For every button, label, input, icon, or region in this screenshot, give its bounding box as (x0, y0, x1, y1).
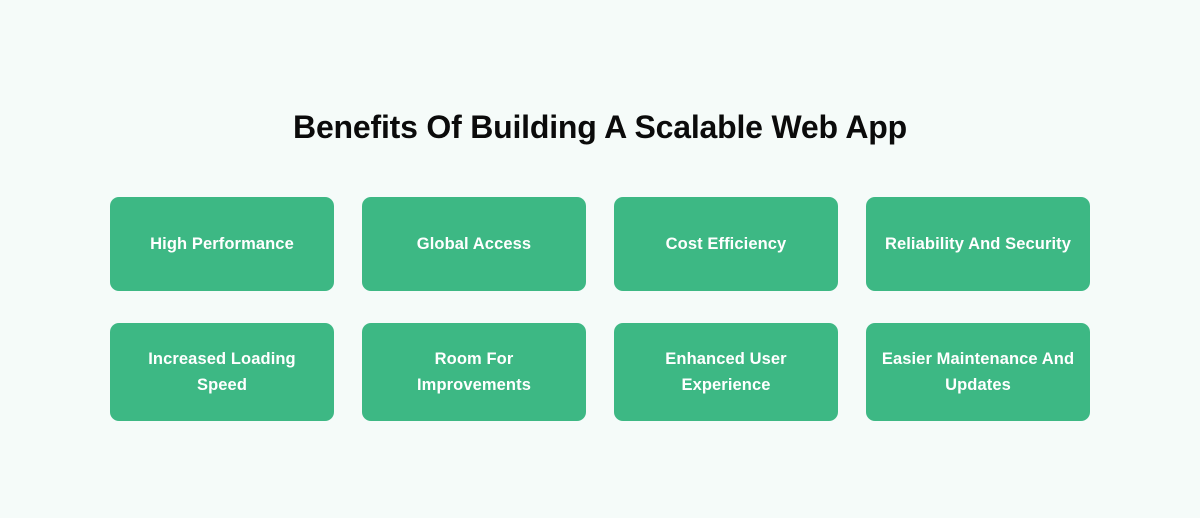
benefits-grid: High Performance Global Access Cost Effi… (110, 197, 1090, 421)
benefit-card-label: Global Access (417, 231, 531, 257)
benefit-card-label: Increased Loading Speed (124, 346, 320, 398)
benefit-card-room-for-improvements[interactable]: Room For Improvements (362, 323, 586, 421)
benefit-card-label: Cost Efficiency (666, 231, 787, 257)
benefit-card-label: Reliability And Security (885, 231, 1071, 257)
benefit-card-reliability-and-security[interactable]: Reliability And Security (866, 197, 1090, 291)
benefit-card-label: Room For Improvements (376, 346, 572, 398)
benefit-card-label: Easier Maintenance And Updates (880, 346, 1076, 398)
benefit-card-global-access[interactable]: Global Access (362, 197, 586, 291)
benefit-card-label: High Performance (150, 231, 294, 257)
benefit-card-high-performance[interactable]: High Performance (110, 197, 334, 291)
page-title: Benefits Of Building A Scalable Web App (0, 105, 1200, 149)
benefit-card-enhanced-user-experience[interactable]: Enhanced User Experience (614, 323, 838, 421)
benefit-card-easier-maintenance-and-updates[interactable]: Easier Maintenance And Updates (866, 323, 1090, 421)
benefit-card-cost-efficiency[interactable]: Cost Efficiency (614, 197, 838, 291)
benefits-infographic: Benefits Of Building A Scalable Web App … (0, 0, 1200, 518)
benefit-card-increased-loading-speed[interactable]: Increased Loading Speed (110, 323, 334, 421)
benefit-card-label: Enhanced User Experience (628, 346, 824, 398)
